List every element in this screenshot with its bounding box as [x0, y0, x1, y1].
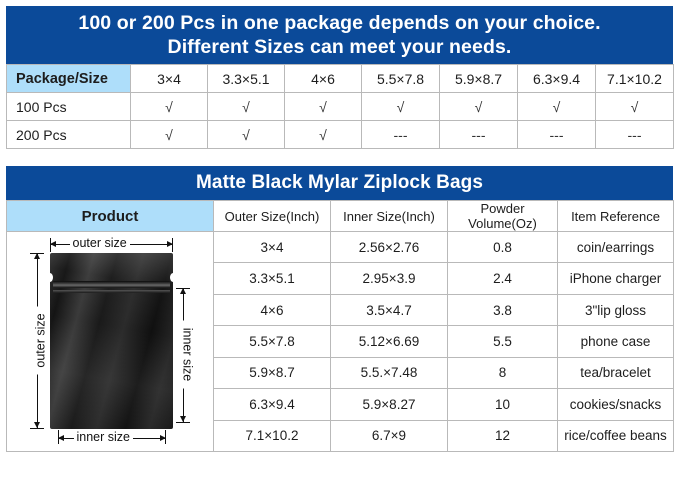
- row-label-100pcs: 100 Pcs: [7, 93, 131, 121]
- arrow-up-icon: [34, 253, 40, 259]
- cell-item-reference: cookies/snacks: [558, 389, 674, 420]
- cell-inner-size: 3.5×4.7: [331, 294, 448, 325]
- cell-powder-volume: 2.4: [448, 263, 558, 294]
- availability-cell: √: [208, 93, 285, 121]
- cell-inner-size: 5.9×8.27: [331, 389, 448, 420]
- availability-cell: √: [285, 93, 362, 121]
- availability-cell: √: [518, 93, 596, 121]
- availability-cell: ---: [596, 121, 674, 149]
- tear-notch-right-icon: [170, 273, 176, 282]
- size-header-cell: 6.3×9.4: [518, 65, 596, 93]
- zipper-seal-icon: [53, 281, 170, 288]
- availability-cell: √: [440, 93, 518, 121]
- size-header-cell: 7.1×10.2: [596, 65, 674, 93]
- availability-cell: √: [131, 93, 208, 121]
- package-size-table: Package/Size 3×4 3.3×5.1 4×6 5.5×7.8 5.9…: [6, 64, 674, 149]
- size-header-cell: 3×4: [131, 65, 208, 93]
- cell-item-reference: coin/earrings: [558, 232, 674, 263]
- dim-guide-right-bottom: [176, 422, 190, 423]
- product-title-banner: Matte Black Mylar Ziplock Bags: [6, 166, 673, 200]
- cell-inner-size: 5.5.×7.48: [331, 357, 448, 388]
- cell-powder-volume: 8: [448, 357, 558, 388]
- row-label-200pcs: 200 Pcs: [7, 121, 131, 149]
- product-spec-table: Product Outer Size(Inch) Inner Size(Inch…: [6, 200, 674, 452]
- column-header-outer-size: Outer Size(Inch): [214, 201, 331, 232]
- arrow-left-icon: [50, 241, 56, 247]
- cell-outer-size: 5.5×7.8: [214, 326, 331, 357]
- dim-label-left: outer size: [34, 307, 47, 375]
- availability-cell: ---: [440, 121, 518, 149]
- cell-item-reference: rice/coffee beans: [558, 420, 674, 451]
- table-row: outer size outer size: [7, 232, 674, 263]
- table-row-header: Product Outer Size(Inch) Inner Size(Inch…: [7, 201, 674, 232]
- zipper-seal-shadow: [53, 290, 170, 293]
- tear-notch-left-icon: [47, 273, 53, 282]
- size-header-cell: 3.3×5.1: [208, 65, 285, 93]
- cell-item-reference: phone case: [558, 326, 674, 357]
- cell-inner-size: 6.7×9: [331, 420, 448, 451]
- availability-cell: ---: [518, 121, 596, 149]
- cell-item-reference: iPhone charger: [558, 263, 674, 294]
- table-row-header: Package/Size 3×4 3.3×5.1 4×6 5.5×7.8 5.9…: [7, 65, 674, 93]
- availability-cell: √: [285, 121, 362, 149]
- dim-label-top: outer size: [70, 237, 130, 250]
- bag-diagram: outer size outer size: [8, 232, 213, 451]
- headline-line-1: 100 or 200 Pcs in one package depends on…: [6, 11, 673, 35]
- arrow-right-icon: [167, 241, 173, 247]
- dim-label-right: inner size: [180, 321, 193, 389]
- arrow-down-icon: [180, 416, 186, 422]
- cell-item-reference: tea/bracelet: [558, 357, 674, 388]
- section-divider: [6, 149, 673, 166]
- cell-outer-size: 7.1×10.2: [214, 420, 331, 451]
- cell-inner-size: 2.56×2.76: [331, 232, 448, 263]
- headline-line-2: Different Sizes can meet your needs.: [6, 35, 673, 59]
- size-header-cell: 5.9×8.7: [440, 65, 518, 93]
- arrow-up-icon: [180, 288, 186, 294]
- column-header-inner-size: Inner Size(Inch): [331, 201, 448, 232]
- bag-sheen: [50, 253, 173, 429]
- arrow-left-icon: [58, 435, 64, 441]
- cell-outer-size: 3×4: [214, 232, 331, 263]
- cell-outer-size: 5.9×8.7: [214, 357, 331, 388]
- cell-powder-volume: 5.5: [448, 326, 558, 357]
- cell-powder-volume: 3.8: [448, 294, 558, 325]
- availability-cell: √: [208, 121, 285, 149]
- cell-outer-size: 6.3×9.4: [214, 389, 331, 420]
- cell-powder-volume: 0.8: [448, 232, 558, 263]
- table-row: 200 Pcs √ √ √ --- --- --- ---: [7, 121, 674, 149]
- column-header-product: Product: [7, 201, 214, 232]
- size-header-cell: 4×6: [285, 65, 362, 93]
- headline-banner: 100 or 200 Pcs in one package depends on…: [6, 6, 673, 64]
- arrow-down-icon: [34, 422, 40, 428]
- mylar-bag-illustration: [50, 253, 173, 429]
- infographic-page: 100 or 200 Pcs in one package depends on…: [0, 0, 679, 480]
- cell-inner-size: 5.12×6.69: [331, 326, 448, 357]
- availability-cell: √: [596, 93, 674, 121]
- availability-cell: ---: [362, 121, 440, 149]
- cell-outer-size: 3.3×5.1: [214, 263, 331, 294]
- cell-inner-size: 2.95×3.9: [331, 263, 448, 294]
- availability-cell: √: [131, 121, 208, 149]
- availability-cell: √: [362, 93, 440, 121]
- dim-label-bottom: inner size: [74, 431, 134, 444]
- cell-powder-volume: 10: [448, 389, 558, 420]
- table-row: 100 Pcs √ √ √ √ √ √ √: [7, 93, 674, 121]
- cell-powder-volume: 12: [448, 420, 558, 451]
- column-header-powder-volume: Powder Volume(Oz): [448, 201, 558, 232]
- arrow-right-icon: [160, 435, 166, 441]
- size-header-cell: 5.5×7.8: [362, 65, 440, 93]
- cell-outer-size: 4×6: [214, 294, 331, 325]
- package-size-label: Package/Size: [7, 65, 131, 93]
- product-image-cell: outer size outer size: [7, 232, 214, 452]
- column-header-item-reference: Item Reference: [558, 201, 674, 232]
- cell-item-reference: 3"lip gloss: [558, 294, 674, 325]
